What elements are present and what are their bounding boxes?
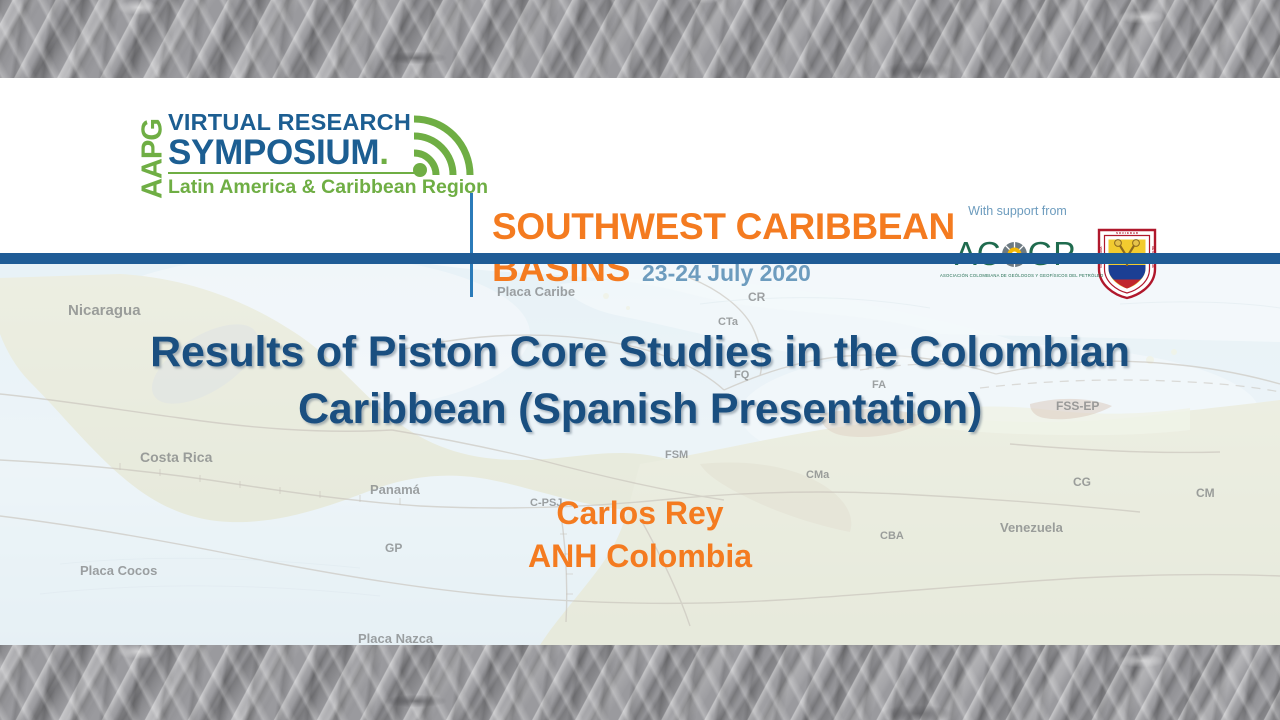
page-title-line1: Results of Piston Core Studies in the Co… [90,324,1190,381]
author-block: Carlos Rey ANH Colombia [90,492,1190,578]
caribbean-tectonic-map-background: NicaraguaPlaca CaribeCRCTaCosta RicaFQFA… [0,264,1280,645]
event-title-block: SOUTHWEST CARIBBEAN BASINS 23-24 July 20… [492,206,955,294]
sociedad-colombiana-geologia-shield-icon: S O C I E D A D COLOMBIANA DE GEOLOGIA [1096,227,1158,306]
texture-blotches-layer [0,0,1280,78]
map-label: Costa Rica [140,449,212,465]
aapg-wordmark-label: AAPG [137,119,170,199]
map-label: CMa [806,469,829,481]
symposium-line-virtual-research: VIRTUAL RESEARCH [168,110,420,135]
map-label: CM [1196,486,1215,500]
symposium-wordmark: VIRTUAL RESEARCH SYMPOSIUM. Latin Americ… [168,108,420,199]
page-title: Results of Piston Core Studies in the Co… [90,324,1190,438]
aapg-symposium-logo: AAPG VIRTUAL RESEARCH SYMPOSIUM. Latin A… [140,108,420,210]
symposium-dot: . [379,133,388,172]
map-label: Placa Nazca [358,631,433,645]
texture-blotches-layer [0,645,1280,720]
author-name: Carlos Rey [90,492,1190,535]
symposium-header-band: AAPG VIRTUAL RESEARCH SYMPOSIUM. Latin A… [0,78,1280,253]
event-title-line1: SOUTHWEST CARIBBEAN [492,206,955,248]
support-label: With support from [940,204,1095,219]
header-blue-divider-bar [0,253,1280,264]
top-core-texture-banner [0,0,1280,78]
svg-text:S O C I E D A D: S O C I E D A D [1116,231,1139,235]
header-content: AAPG VIRTUAL RESEARCH SYMPOSIUM. Latin A… [0,78,1280,253]
symposium-region-label: Latin America & Caribbean Region [168,172,420,199]
map-label: CG [1073,475,1091,489]
wifi-signal-icon [412,112,484,183]
author-organization: ANH Colombia [90,535,1190,578]
map-label: Nicaragua [68,302,141,319]
map-label: FSM [665,449,688,461]
header-vertical-divider [470,193,473,297]
symposium-line-symposium: SYMPOSIUM. [168,135,420,171]
aapg-wordmark-icon: AAPG [140,108,166,210]
acggp-subtitle: ASOCIACIÓN COLOMBIANA DE GEÓLOGOS Y GEOF… [940,273,1090,279]
sponsor-logos-row: A C G P [940,227,1190,306]
bottom-core-texture-banner [0,645,1280,720]
presentation-title-slide: AAPG VIRTUAL RESEARCH SYMPOSIUM. Latin A… [0,0,1280,720]
page-title-line2: Caribbean (Spanish Presentation) [90,381,1190,438]
